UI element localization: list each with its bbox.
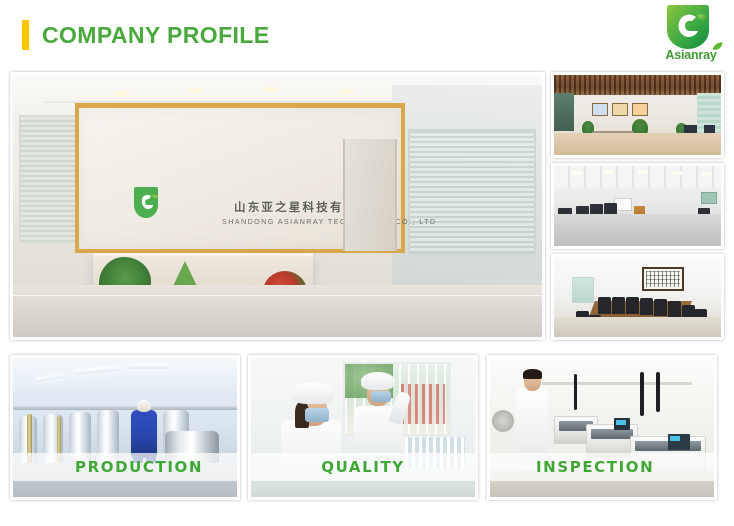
- wall-art-frame: [632, 103, 648, 116]
- ceiling-light: [604, 170, 614, 174]
- reception-door: [343, 139, 397, 251]
- office-floor: [554, 133, 721, 155]
- stand-rod: [640, 372, 644, 416]
- worker-head-cap: [137, 400, 151, 412]
- wall-art-frame: [592, 103, 608, 116]
- ceiling-light: [338, 89, 355, 94]
- worker-body: [131, 410, 157, 458]
- ceiling-light: [188, 88, 205, 93]
- ceiling-light: [263, 87, 280, 92]
- asianray-emblem-icon: [662, 4, 714, 50]
- stand-rod: [656, 372, 660, 412]
- reception-floor: [13, 285, 542, 337]
- inspection-caption-band: INSPECTION: [490, 453, 714, 481]
- chair: [668, 301, 681, 318]
- ceiling-grille: [554, 75, 721, 95]
- chair: [598, 297, 611, 314]
- calligraphy-art: [646, 271, 680, 287]
- company-profile-page: COMPANY PROFILE: [0, 0, 734, 526]
- wall-art-frame: [612, 103, 628, 116]
- display-screen: [670, 436, 680, 441]
- inspection-caption: INSPECTION: [490, 458, 654, 476]
- calligraphy-frame: [642, 267, 684, 291]
- overhead-pipe: [13, 406, 237, 410]
- floor-fan: [492, 410, 514, 432]
- office-window: [554, 93, 574, 131]
- chair: [612, 297, 625, 314]
- wall-shelf: [542, 382, 692, 385]
- chair: [640, 298, 653, 315]
- training-room-photo[interactable]: [551, 163, 724, 249]
- display-screen: [616, 420, 626, 425]
- quality-caption-band: QUALITY: [251, 453, 475, 481]
- wall-logo-icon: [131, 186, 161, 220]
- reception-lobby-photo[interactable]: 山东亚之星科技有限公司 SHANDONG ASIANRAY TECHNOLOGY…: [10, 72, 545, 340]
- reception-photo-content: 山东亚之星科技有限公司 SHANDONG ASIANRAY TECHNOLOGY…: [13, 75, 542, 337]
- quality-photo[interactable]: QUALITY: [248, 355, 478, 500]
- ceiling-light: [672, 171, 682, 175]
- technician-mask: [371, 391, 391, 402]
- meeting-room-photo[interactable]: [551, 254, 724, 340]
- bath-tank: [591, 429, 633, 439]
- production-caption-band: PRODUCTION: [13, 453, 237, 481]
- ceiling-light: [113, 91, 130, 96]
- inspection-photo[interactable]: INSPECTION: [487, 355, 717, 500]
- inspection-photo-content: INSPECTION: [490, 358, 714, 497]
- production-photo-content: PRODUCTION: [13, 358, 237, 497]
- quality-caption: QUALITY: [251, 458, 475, 476]
- inspector-hair: [523, 369, 542, 379]
- ceiling-light: [638, 170, 648, 174]
- wall-sign-english: SHANDONG ASIANRAY TECHNOLOGY CO., LTD: [222, 217, 436, 226]
- page-bottom-strip: [0, 510, 734, 526]
- title-accent-bar: [22, 20, 29, 50]
- quality-photo-content: QUALITY: [251, 358, 475, 497]
- office-lounge-photo[interactable]: [551, 72, 724, 158]
- chair: [654, 299, 667, 316]
- technician-hairnet: [361, 372, 395, 390]
- control-panel: [668, 434, 690, 450]
- stand-rod: [574, 374, 577, 410]
- technician-hairnet: [291, 382, 335, 404]
- meeting-photo-content: [554, 257, 721, 337]
- page-title-group: COMPANY PROFILE: [22, 20, 270, 50]
- wall-screen: [701, 192, 717, 204]
- ceiling-light: [129, 364, 169, 369]
- office-wood-ceiling: [554, 75, 721, 95]
- chair: [626, 297, 639, 314]
- ceiling-light: [572, 171, 582, 175]
- page-header: COMPANY PROFILE: [0, 0, 734, 68]
- production-ceiling: [13, 358, 237, 392]
- training-floor: [554, 214, 721, 246]
- meeting-glass-panel: [572, 277, 594, 303]
- asianray-logo[interactable]: Asianray: [654, 4, 728, 66]
- technician-mask: [305, 408, 329, 422]
- office-photo-content: [554, 75, 721, 155]
- meeting-floor: [554, 317, 721, 337]
- ceiling-light: [702, 172, 712, 176]
- training-photo-content: [554, 166, 721, 246]
- reception-glass-partition: [408, 129, 536, 255]
- logo-wordmark: Asianray: [654, 48, 728, 62]
- production-photo[interactable]: PRODUCTION: [10, 355, 240, 500]
- page-title: COMPANY PROFILE: [42, 20, 270, 50]
- reception-window-blinds: [19, 115, 77, 243]
- production-caption: PRODUCTION: [13, 458, 203, 476]
- control-panel: [614, 418, 630, 430]
